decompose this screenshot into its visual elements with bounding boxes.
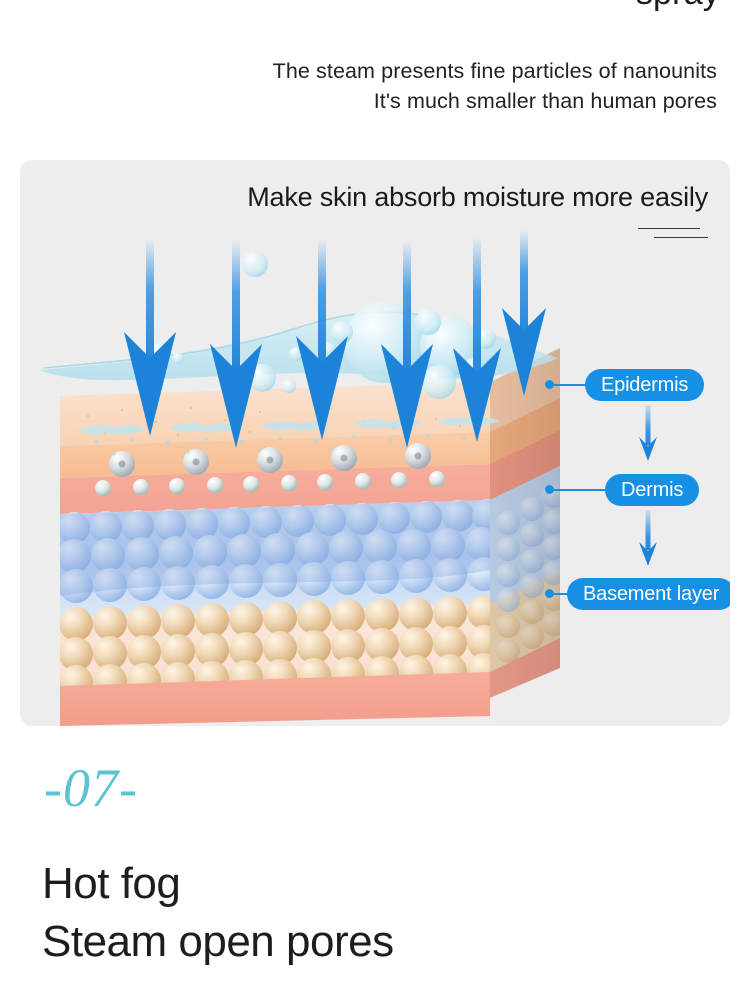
section-number: -07-: [44, 757, 138, 819]
skin-cross-section-graphic: [60, 338, 560, 726]
double-rule-divider-icon: [638, 228, 708, 246]
intro-line-2: It's much smaller than human pores: [117, 86, 717, 116]
section-heading-line-1: Hot fog: [42, 855, 394, 913]
skin-illustration: [30, 230, 575, 726]
flow-down-arrow-icon-2: [637, 510, 659, 566]
label-epidermis[interactable]: Epidermis: [585, 369, 704, 401]
intro-line-1: The steam presents fine particles of nan…: [117, 56, 717, 86]
section-heading-line-2: Steam open pores: [42, 913, 394, 971]
section-heading: Hot fog Steam open pores: [42, 855, 394, 971]
label-dermis[interactable]: Dermis: [605, 474, 699, 506]
flow-down-arrow-icon-1: [637, 405, 659, 461]
connector-line-dermis: [553, 489, 607, 491]
intro-paragraph: The steam presents fine particles of nan…: [117, 56, 717, 116]
card-title: Make skin absorb moisture more easily: [20, 182, 730, 213]
product-infographic-page: spray The steam presents fine particles …: [0, 0, 750, 993]
feature-card: Make skin absorb moisture more easily: [20, 160, 730, 726]
label-basement-layer[interactable]: Basement layer: [567, 578, 730, 610]
connector-line-epidermis: [553, 384, 587, 386]
cropped-headline: spray: [636, 0, 720, 13]
skin-layer-labels: Epidermis Dermis: [545, 355, 730, 615]
